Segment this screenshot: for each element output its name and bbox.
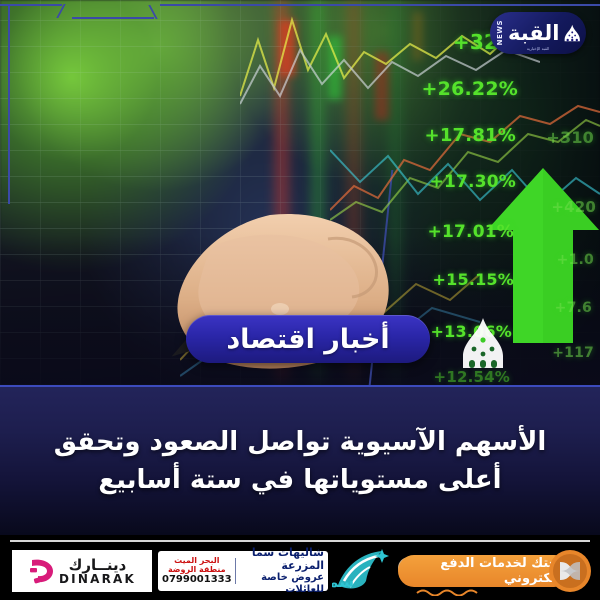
percent-readout: +15.15% [433, 270, 514, 289]
dinarak-logo-icon [28, 557, 54, 585]
percent-readout-right: +7.6 [555, 300, 592, 316]
dinarak-text: دينــارك DINARAK [59, 558, 136, 585]
chalet-main-text: شاليهات سما المزرعة عروض خاصة للعائلات [238, 547, 324, 595]
ad-chalet[interactable]: شاليهات سما المزرعة عروض خاصة للعائلات ا… [158, 551, 328, 591]
category-badge[interactable]: أخبار اقتصاد [186, 315, 430, 363]
logo-news-label: NEWS [496, 20, 504, 45]
percent-readout-right: +310 [546, 128, 594, 147]
frame-line [160, 4, 600, 6]
banner-divider [10, 540, 590, 542]
chalet-location2: منطقة الروضة [168, 565, 226, 574]
percent-readout: +17.81% [425, 125, 516, 146]
ad-dinarak[interactable]: دينــارك DINARAK [12, 550, 152, 592]
sama-word: سما [332, 573, 354, 591]
frame-line [8, 4, 10, 204]
headline-band: الأسهم الآسيوية تواصل الصعود وتحقق أعلى … [0, 385, 600, 535]
sponsor-banner: دينــارك DINARAK شاليهات سما المزرعة عرو… [0, 535, 600, 600]
rahatak-squiggle [415, 587, 485, 596]
dome-logo-icon [564, 19, 580, 47]
percent-readout: +17.30% [430, 172, 516, 192]
chalet-divider [235, 558, 236, 584]
percent-readout: +26.22% [422, 78, 518, 100]
chalet-phone[interactable]: 0799001333 [162, 574, 232, 586]
logo-tagline: القبة الإخبارية [490, 46, 586, 51]
chalet-line1: شاليهات سما المزرعة [238, 547, 324, 572]
dome-watermark-icon [455, 316, 511, 372]
percent-readout: +17.01% [428, 222, 514, 242]
dinarak-english: DINARAK [59, 573, 136, 585]
percent-readout-right: +117 [552, 345, 594, 361]
news-card: +32.5 +26.22% +17.81% +17.30% +17.01% +1… [0, 0, 600, 600]
channel-logo[interactable]: القبة الإخبارية القبة NEWS [490, 12, 586, 54]
rahatak-logo-icon[interactable] [548, 549, 592, 593]
headline-text: الأسهم الآسيوية تواصل الصعود وتحقق أعلى … [22, 423, 578, 500]
dinarak-arabic: دينــارك [69, 558, 127, 573]
percent-readout-right: +1.0 [557, 252, 594, 268]
frame-line [72, 17, 154, 19]
ad-rahatak[interactable]: راحتك لخدمات الدفع الإلكتروني [398, 555, 570, 587]
logo-word: القبة [508, 23, 560, 44]
sama-logo-icon[interactable]: سما [332, 547, 394, 595]
percent-readout-right: +420 [551, 198, 596, 216]
chalet-side-text: البحر الميت منطقة الروضة 0799001333 [162, 556, 232, 586]
chalet-line2: عروض خاصة للعائلات [238, 572, 324, 595]
chalet-location1: البحر الميت [174, 556, 219, 565]
